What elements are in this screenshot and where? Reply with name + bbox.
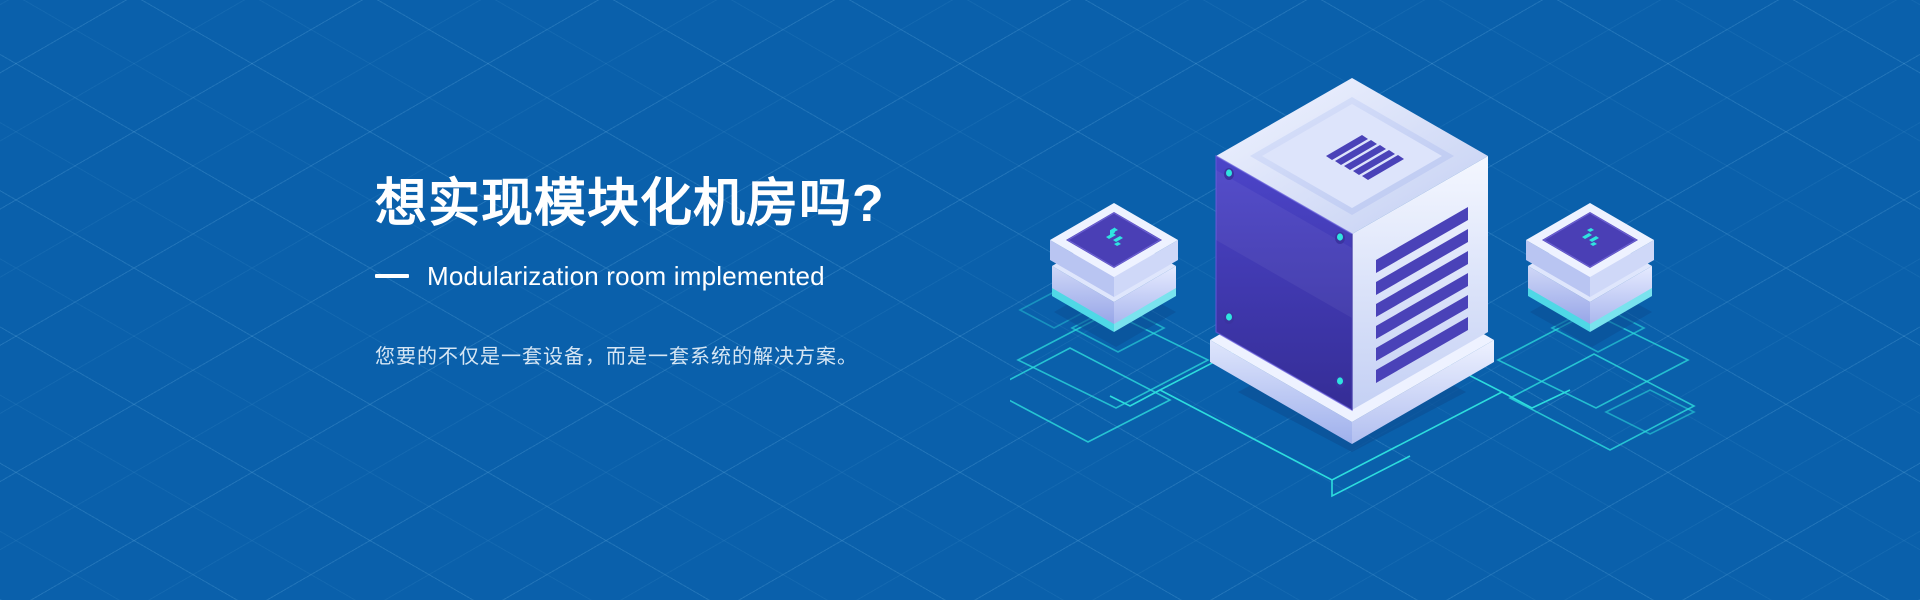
page-subtitle: Modularization room implemented (427, 261, 825, 292)
module-right (1526, 203, 1654, 347)
isometric-server-room-illustration (1010, 60, 1700, 530)
dash-icon (375, 274, 409, 278)
hero-banner: 想实现模块化机房吗? Modularization room implement… (0, 0, 1920, 600)
